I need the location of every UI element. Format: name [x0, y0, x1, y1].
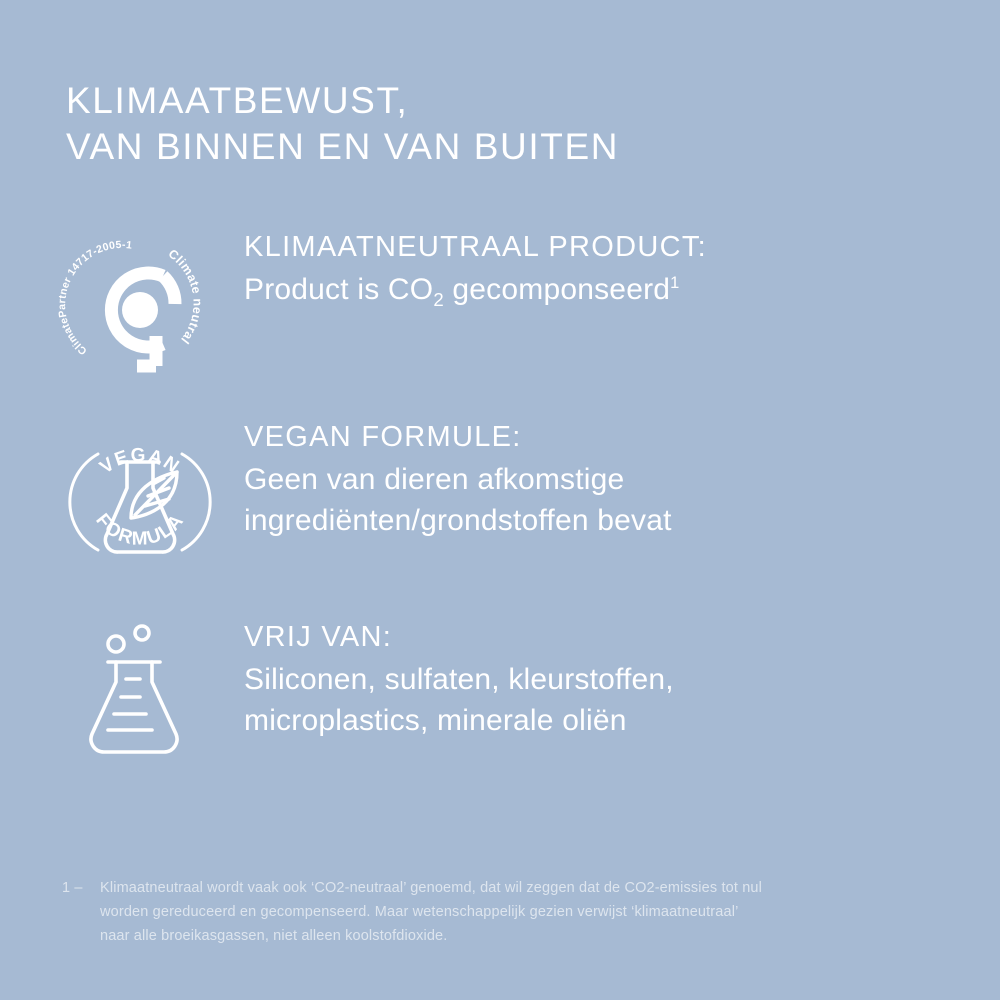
- climate-neutral-certificate-icon: ClimatePartner 14717-2005-1001 Climate n…: [60, 228, 220, 382]
- feature-body: Product is CO2 gecomponseerd1: [244, 269, 707, 310]
- feature-heading: KLIMAATNEUTRAAL PRODUCT:: [244, 228, 707, 266]
- feature-text-block: VRIJ VAN: Siliconen, sulfaten, kleurstof…: [220, 618, 674, 741]
- body-suffix: gecomponseerd: [444, 273, 670, 306]
- vegan-formula-badge-icon: VEGAN FORMULA: [60, 418, 220, 582]
- feature-body: Geen van dieren afkomstige ingrediënten/…: [244, 459, 672, 541]
- footnote: 1 – Klimaatneutraal wordt vaak ook ‘CO2-…: [62, 876, 962, 948]
- body-prefix: Product is CO: [244, 273, 433, 306]
- co2-subscript: 2: [433, 289, 444, 310]
- feature-body: Siliconen, sulfaten, kleurstoffen, micro…: [244, 659, 674, 741]
- feature-item-vegan: VEGAN FORMULA VEGAN FORMULE: Geen van di…: [60, 418, 960, 582]
- feature-text-block: VEGAN FORMULE: Geen van dieren afkomstig…: [220, 418, 672, 541]
- feature-text-block: KLIMAATNEUTRAAL PRODUCT: Product is CO2 …: [220, 228, 707, 310]
- footnote-marker: 1 –: [62, 876, 100, 948]
- svg-text:VEGAN: VEGAN: [96, 445, 184, 478]
- feature-heading: VRIJ VAN:: [244, 618, 674, 656]
- footnote-text: Klimaatneutraal wordt vaak ook ‘CO2-neut…: [100, 876, 762, 948]
- vegan-top-text: VEGAN: [96, 445, 184, 478]
- footnote-ref: 1: [670, 274, 679, 292]
- erlenmeyer-flask-icon: [60, 618, 220, 764]
- page-title: KLIMAATBEWUST, VAN BINNEN EN VAN BUITEN: [66, 78, 926, 170]
- feature-item-klimaatneutraal: ClimatePartner 14717-2005-1001 Climate n…: [60, 228, 960, 382]
- feature-item-vrij-van: VRIJ VAN: Siliconen, sulfaten, kleurstof…: [60, 618, 960, 764]
- feature-heading: VEGAN FORMULE:: [244, 418, 672, 456]
- promo-panel: KLIMAATBEWUST, VAN BINNEN EN VAN BUITEN: [0, 0, 1000, 1000]
